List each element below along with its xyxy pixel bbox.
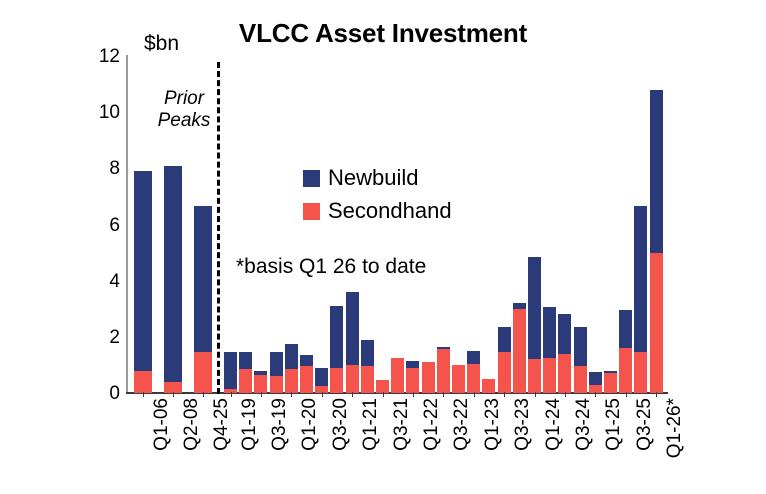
bar-segment-newbuild <box>467 351 480 364</box>
y-axis-ticks: 12 10 8 6 4 2 0 <box>84 0 120 494</box>
x-tick-label-q425: Q4-25 <box>212 398 231 451</box>
bar-stack <box>346 292 359 393</box>
bar-stack <box>513 303 526 393</box>
bar-segment-secondhand <box>528 359 541 393</box>
bar-segment-newbuild <box>558 314 571 353</box>
bar-segment-secondhand <box>452 365 465 393</box>
bar-segment-secondhand <box>406 368 419 393</box>
x-tick-label-q124: Q1-24 <box>544 398 563 451</box>
bar-stack <box>452 365 465 393</box>
x-tick-label-q319: Q3-19 <box>270 398 289 451</box>
bar-segment-newbuild <box>574 327 587 366</box>
bar-stack <box>528 257 541 393</box>
bar-segment-secondhand <box>437 349 450 393</box>
bar-segment-newbuild <box>543 307 556 358</box>
bar-segment-secondhand <box>239 369 252 393</box>
bar-stack <box>239 352 252 393</box>
x-tick-label-q208: Q2-08 <box>182 398 201 451</box>
y-tick-6: 6 <box>86 216 120 235</box>
x-tick-label-q126: Q1-26* <box>665 398 684 458</box>
x-tick-label-q125: Q1-25 <box>604 398 623 451</box>
bar-stack <box>285 344 298 393</box>
bar-segment-newbuild <box>619 310 632 348</box>
x-tick-mark <box>322 392 323 397</box>
bar-stack <box>650 90 663 393</box>
x-tick-mark <box>413 392 414 397</box>
bar-segment-newbuild <box>164 166 182 382</box>
bar-segment-secondhand <box>634 352 647 393</box>
bar-stack <box>406 361 419 393</box>
bar-segment-secondhand <box>619 348 632 393</box>
bar-stack <box>574 327 587 393</box>
y-tick-4: 4 <box>86 272 120 291</box>
bar-segment-newbuild <box>300 355 313 366</box>
y-tick-10: 10 <box>86 103 120 122</box>
bar-segment-secondhand <box>574 366 587 393</box>
x-tick-mark <box>443 392 444 397</box>
bar-stack <box>482 379 495 393</box>
x-tick-mark <box>261 392 262 397</box>
x-tick-label-q325: Q3-25 <box>635 398 654 451</box>
bar-segment-newbuild <box>650 90 663 253</box>
bar-stack <box>437 347 450 393</box>
bar-segment-newbuild <box>361 340 374 367</box>
y-tick-0: 0 <box>86 384 120 403</box>
bar-stack <box>361 340 374 393</box>
y-axis-line <box>126 55 128 394</box>
bar-stack <box>315 368 328 393</box>
bar-segment-newbuild <box>634 206 647 352</box>
bar-segment-secondhand <box>254 375 267 393</box>
bar-segment-secondhand <box>361 366 374 393</box>
bar-segment-newbuild <box>194 206 212 352</box>
bar-segment-newbuild <box>239 352 252 369</box>
x-tick-mark <box>595 392 596 397</box>
x-tick-mark <box>535 392 536 397</box>
bar-segment-newbuild <box>285 344 298 369</box>
bar-stack <box>589 372 602 393</box>
bar-stack <box>224 352 237 393</box>
bar-segment-secondhand <box>270 376 283 393</box>
x-tick-mark <box>383 392 384 397</box>
bar-stack <box>164 166 182 393</box>
bar-segment-secondhand <box>482 379 495 393</box>
bar-segment-secondhand <box>300 366 313 393</box>
bar-stack <box>270 352 283 393</box>
bar-segment-secondhand <box>604 373 617 393</box>
bar-stack <box>558 314 571 393</box>
y-tick-8: 8 <box>86 159 120 178</box>
x-tick-mark <box>656 392 657 397</box>
bar-stack <box>634 206 647 393</box>
bar-segment-newbuild <box>330 306 343 368</box>
bar-segment-newbuild <box>406 361 419 368</box>
x-tick-mark <box>504 392 505 397</box>
bar-segment-secondhand <box>285 369 298 393</box>
bar-segment-secondhand <box>422 362 435 393</box>
bar-segment-secondhand <box>498 352 511 393</box>
bar-stack <box>134 171 152 393</box>
bar-segment-secondhand <box>513 309 526 393</box>
bar-stack <box>543 307 556 393</box>
bar-segment-newbuild <box>315 368 328 386</box>
bar-segment-secondhand <box>194 352 212 393</box>
x-tick-mark <box>291 392 292 397</box>
x-tick-mark <box>626 392 627 397</box>
bar-stack <box>604 371 617 393</box>
x-tick-label-q121: Q1-21 <box>361 398 380 451</box>
bar-segment-newbuild <box>498 327 511 352</box>
x-tick-label-q320: Q3-20 <box>331 398 350 451</box>
bar-stack <box>254 371 267 393</box>
bar-stack <box>422 362 435 393</box>
x-tick-label-q123: Q1-23 <box>483 398 502 451</box>
bar-stack <box>467 351 480 393</box>
bar-segment-newbuild <box>270 352 283 376</box>
bar-stack <box>619 310 632 393</box>
bar-segment-secondhand <box>330 368 343 393</box>
x-tick-mark <box>203 392 204 397</box>
chart-container: VLCC Asset Investment 12 10 8 6 4 2 0 $b… <box>0 0 766 494</box>
x-tick-label-q119: Q1-19 <box>240 398 259 451</box>
x-tick-label-q322: Q3-22 <box>452 398 471 451</box>
bar-segment-secondhand <box>650 253 663 393</box>
bar-stack <box>498 327 511 393</box>
x-tick-mark <box>231 392 232 397</box>
bar-segment-secondhand <box>391 358 404 393</box>
x-tick-label-q324: Q3-24 <box>574 398 593 451</box>
x-tick-label-q323: Q3-23 <box>513 398 532 451</box>
x-tick-label-q106: Q1-06 <box>152 398 171 451</box>
y-tick-12: 12 <box>86 47 120 66</box>
bar-stack <box>330 306 343 393</box>
x-tick-mark <box>143 392 144 397</box>
x-tick-label-q122: Q1-22 <box>422 398 441 451</box>
x-tick-mark <box>565 392 566 397</box>
bar-segment-newbuild <box>224 352 237 389</box>
x-tick-mark <box>352 392 353 397</box>
bar-segment-secondhand <box>558 354 571 393</box>
bar-segment-newbuild <box>589 372 602 385</box>
x-tick-mark <box>173 392 174 397</box>
x-tick-mark <box>474 392 475 397</box>
section-divider-dashed-line <box>217 62 220 394</box>
x-tick-label-q120: Q1-20 <box>300 398 319 451</box>
bar-stack <box>391 358 404 393</box>
x-tick-label-q321: Q3-21 <box>392 398 411 451</box>
bar-segment-secondhand <box>467 364 480 393</box>
bar-segment-secondhand <box>543 358 556 393</box>
bar-segment-newbuild <box>528 257 541 360</box>
bar-segment-newbuild <box>134 171 152 370</box>
bar-segment-secondhand <box>134 371 152 393</box>
bar-stack <box>300 355 313 393</box>
bar-segment-newbuild <box>346 292 359 365</box>
bar-stack <box>194 206 212 393</box>
bar-q106[interactable] <box>134 0 152 494</box>
bar-segment-secondhand <box>346 365 359 393</box>
y-tick-2: 2 <box>86 328 120 347</box>
